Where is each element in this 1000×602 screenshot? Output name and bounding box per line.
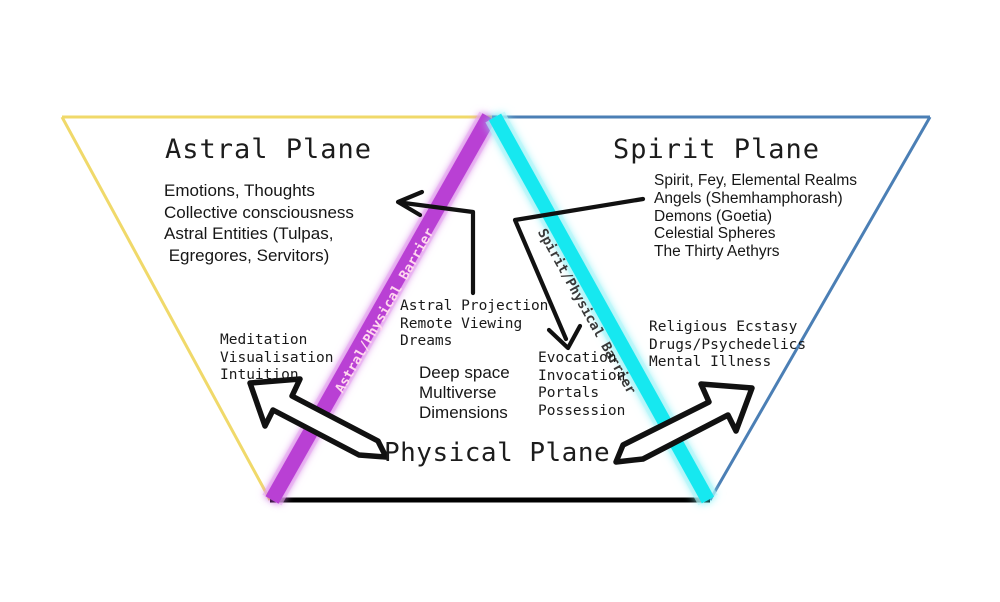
spirit-method-2: Mental Illness: [649, 354, 771, 372]
spirit-result-0: Evocation: [538, 350, 617, 368]
diagram-canvas: Astral Plane Emotions, Thoughts Collecti…: [0, 0, 1000, 602]
spirit-plane-title: Spirit Plane: [613, 134, 820, 165]
spirit-plane-item-0: Spirit, Fey, Elemental Realms: [654, 172, 857, 190]
astral-method-0: Meditation: [220, 332, 307, 350]
physical-space-1: Multiverse: [419, 382, 496, 404]
astral-plane-left-edge: [62, 117, 270, 500]
block-arrow-up-left-icon: [250, 379, 386, 457]
spirit-method-0: Religious Ecstasy: [649, 319, 797, 337]
spirit-plane-item-1: Angels (Shemhamphorash): [654, 190, 843, 208]
physical-space-0: Deep space: [419, 362, 510, 384]
spirit-result-2: Portals: [538, 385, 599, 403]
astral-method-2: Intuition: [220, 367, 299, 385]
astral-result-0: Astral Projection: [400, 298, 548, 316]
spirit-result-3: Possession: [538, 403, 625, 421]
astral-result-1: Remote Viewing: [400, 316, 522, 334]
physical-space-2: Dimensions: [419, 402, 508, 424]
spirit-plane-item-3: Celestial Spheres: [654, 225, 775, 243]
astral-plane-item-2: Astral Entities (Tulpas,: [164, 223, 333, 245]
spirit-result-1: Invocation: [538, 368, 625, 386]
astral-plane-item-3: Egregores, Servitors): [164, 245, 329, 267]
spirit-plane-item-2: Demons (Goetia): [654, 208, 772, 226]
physical-plane-title: Physical Plane: [384, 438, 610, 468]
astral-plane-title: Astral Plane: [165, 134, 372, 165]
astral-result-2: Dreams: [400, 333, 452, 351]
astral-method-1: Visualisation: [220, 350, 334, 368]
astral-plane-item-0: Emotions, Thoughts: [164, 180, 315, 202]
spirit-method-1: Drugs/Psychedelics: [649, 337, 806, 355]
astral-plane-item-1: Collective consciousness: [164, 202, 354, 224]
spirit-plane-item-4: The Thirty Aethyrs: [654, 243, 779, 261]
